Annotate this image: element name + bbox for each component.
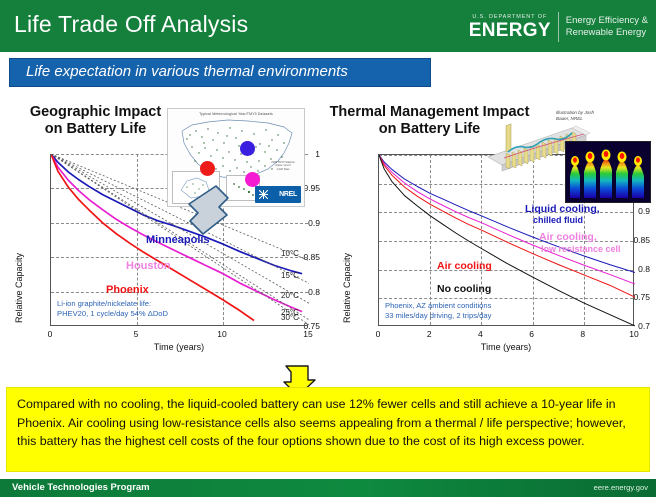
- page-title: Life Trade Off Analysis: [14, 11, 248, 38]
- x-tick-label: 15: [303, 329, 312, 339]
- slide-footer: Vehicle Technologies Program eere.energy…: [0, 479, 656, 497]
- x-tick-label: 10: [217, 329, 226, 339]
- x-tick-label: 10: [629, 329, 638, 339]
- slide-root: Life Trade Off Analysis U.S. DEPARTMENT …: [0, 0, 656, 497]
- map-credit-line3: 1,020 Sites: [266, 168, 300, 171]
- map-marker-phoenix: [200, 161, 215, 176]
- x-tick-label: 4: [478, 329, 483, 339]
- map-credit: 2005 TMY3 Stations Class I and II 1,020 …: [266, 161, 300, 171]
- left-chart-annotation-line2: PHEV20, 1 cycle/day 54% ΔDoD: [57, 309, 168, 319]
- series-label-no-cooling: No cooling: [437, 283, 491, 295]
- thermal-ir-image: [565, 141, 651, 203]
- left-chart-y-axis-label: Relative Capacity: [14, 253, 24, 323]
- illustration-credit-line2: Bauer, NREL: [556, 116, 594, 122]
- series-label-houston: Houston: [126, 260, 171, 272]
- map-marker-minneapolis: [240, 141, 255, 156]
- left-panel-heading-line1: Geographic Impact: [8, 104, 183, 121]
- isotherm-label-10°C: 10°C: [281, 249, 299, 258]
- illustration-credit: Illustration by Josh Bauer, NREL: [556, 110, 594, 122]
- series-label-liquid-cooling-line1: Liquid cooling,: [525, 203, 600, 215]
- left-panel-heading: Geographic Impact on Battery Life: [8, 104, 183, 138]
- right-chart-x-axis-label: Time (years): [378, 342, 634, 352]
- series-label-liquid-cooling-line2: chilled fluid: [533, 215, 583, 225]
- subtitle-bar: Life expectation in various thermal envi…: [9, 58, 431, 87]
- x-tick-label: 0: [376, 329, 381, 339]
- right-chart-y-axis-label: Relative Capacity: [342, 253, 352, 323]
- left-chart-x-axis-label: Time (years): [50, 342, 308, 352]
- x-tick-label: 5: [134, 329, 139, 339]
- doe-energy-wordmark: ENERGY: [469, 21, 551, 40]
- isotherm-label-15°C: 15°C: [281, 271, 299, 280]
- nrel-logo: NREL: [255, 186, 301, 203]
- x-tick-label: 0: [48, 329, 53, 339]
- right-chart-annotation-line1: Phoenix, AZ ambient conditions: [385, 301, 491, 311]
- footer-program-name: Vehicle Technologies Program: [12, 482, 150, 493]
- subtitle-text: Life expectation in various thermal envi…: [10, 59, 430, 80]
- series-label-phoenix: Phoenix: [106, 284, 149, 296]
- x-tick-label: 2: [427, 329, 432, 339]
- callout-text: Compared with no cooling, the liquid-coo…: [17, 395, 639, 451]
- slide-header: Life Trade Off Analysis U.S. DEPARTMENT …: [0, 0, 656, 52]
- thermal-ir-graphic: [566, 142, 650, 202]
- right-chart-annotation-line2: 33 miles/day driving, 2 trips/day: [385, 311, 491, 321]
- left-panel-heading-line2: on Battery Life: [8, 121, 183, 138]
- doe-tagline-line2: Renewable Energy: [566, 27, 648, 39]
- doe-tagline-line1: Energy Efficiency &: [566, 15, 648, 27]
- doe-tagline: Energy Efficiency & Renewable Energy: [559, 15, 648, 39]
- doe-logo: U.S. DEPARTMENT OF ENERGY Energy Efficie…: [469, 10, 648, 44]
- x-tick-label: 8: [580, 329, 585, 339]
- callout-box: Compared with no cooling, the liquid-coo…: [6, 387, 650, 472]
- left-chart-annotation-line1: Li-ion graphite/nickelate life:: [57, 299, 151, 309]
- series-label-air-cooling: Air cooling: [437, 260, 492, 272]
- gray-down-arrow-icon: [186, 184, 230, 236]
- doe-logo-text: U.S. DEPARTMENT OF ENERGY: [469, 14, 558, 40]
- series-label-air-cooling-lowres-line2: low resistance cell: [541, 244, 621, 254]
- map-marker-houston: [245, 172, 260, 187]
- x-tick-label: 6: [529, 329, 534, 339]
- series-label-air-cooling-lowres-line1: Air cooling,: [539, 231, 597, 243]
- isotherm-label-30°C: 30°C: [281, 313, 299, 322]
- footer-url: eere.energy.gov: [594, 483, 648, 492]
- isotherm-label-20°C: 20°C: [281, 291, 299, 300]
